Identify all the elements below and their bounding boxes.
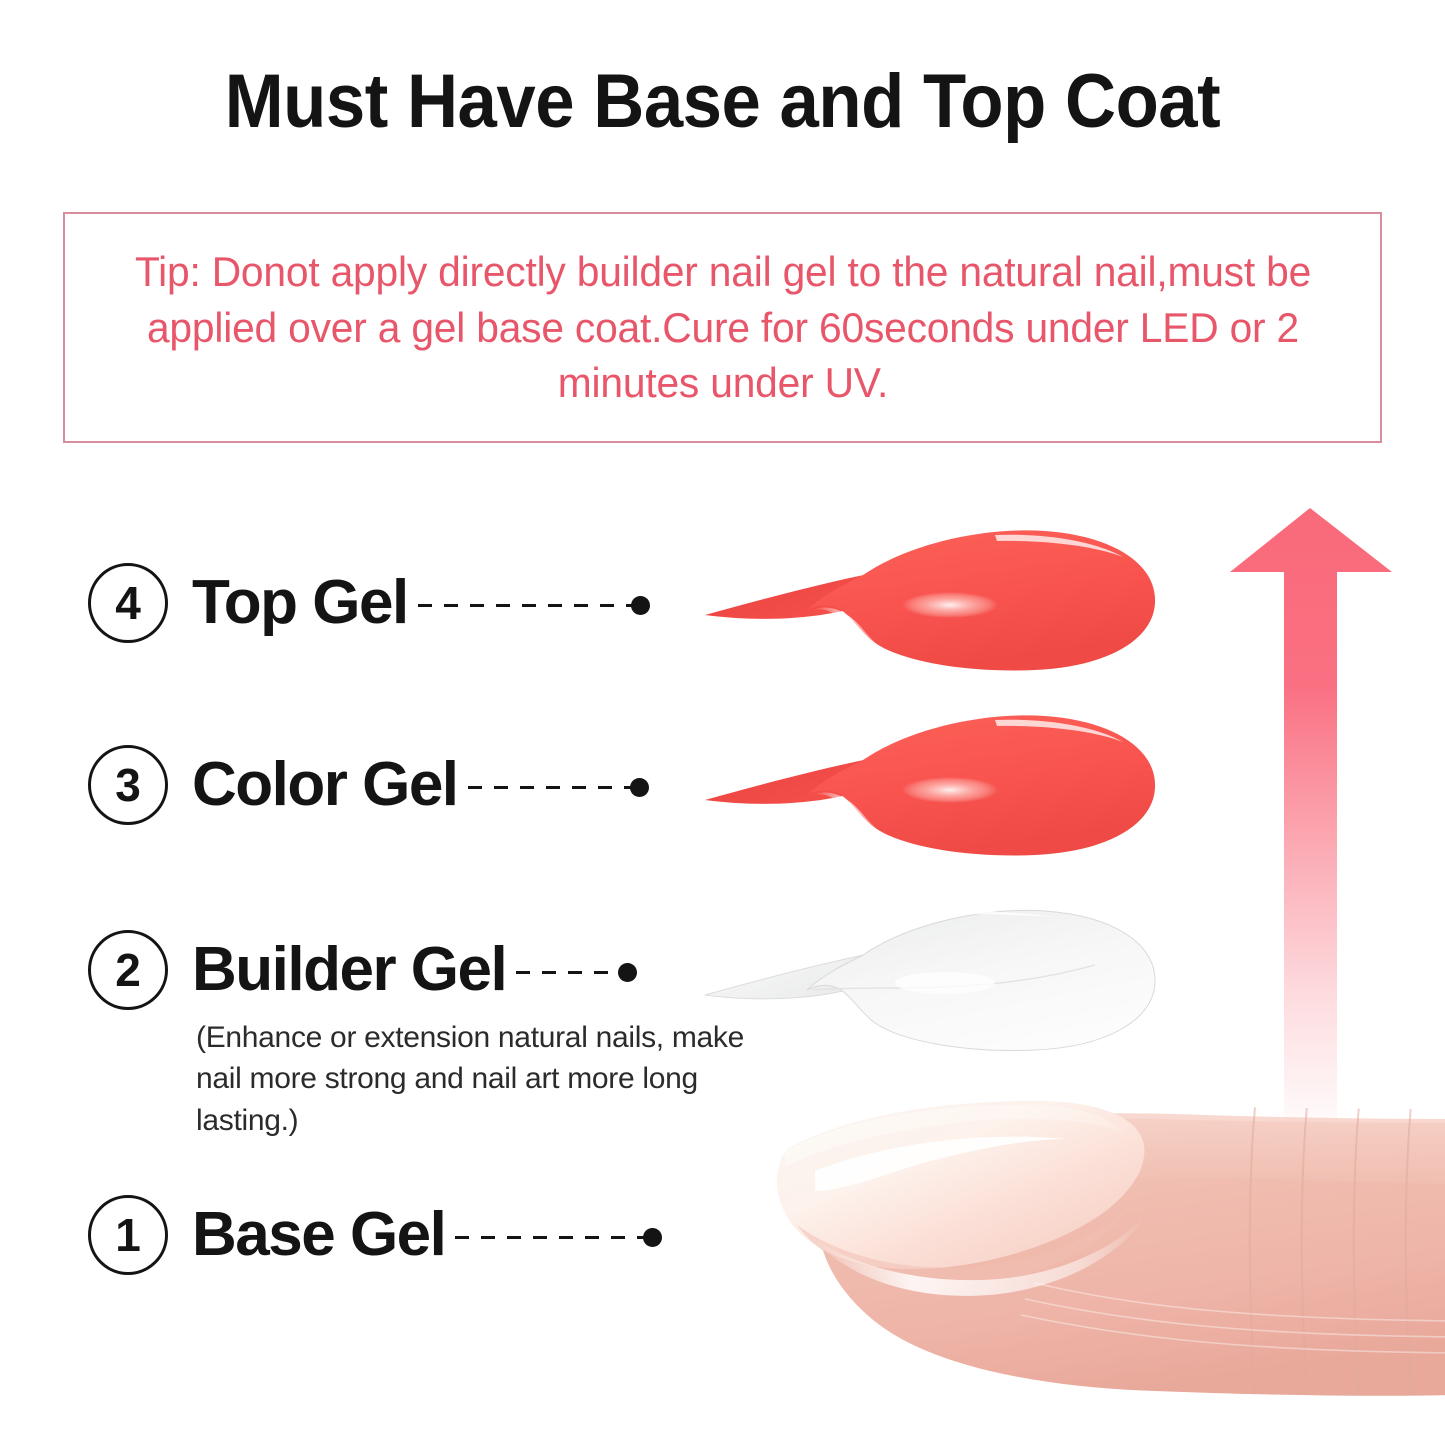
clear-gel-drop-builder-icon <box>695 895 1165 1070</box>
step-note-builder-gel: (Enhance or extension natural nails, mak… <box>196 1017 756 1141</box>
red-gel-drop-top-icon <box>695 515 1165 690</box>
leader-dot-icon <box>630 778 649 797</box>
step-number-badge-2: 2 <box>88 930 168 1010</box>
leader-dot-icon <box>618 963 637 982</box>
step-row-base-gel: 1 Base Gel <box>88 1187 662 1283</box>
step-row-color-gel: 3 Color Gel <box>88 737 649 833</box>
leader-line-icon <box>516 971 620 974</box>
step-number-label: 4 <box>115 580 141 626</box>
page-title: Must Have Base and Top Coat <box>51 58 1395 145</box>
leader-dot-icon <box>631 596 650 615</box>
tip-text: Tip: Donot apply directly builder nail g… <box>121 244 1324 410</box>
step-number-badge-3: 3 <box>88 745 168 825</box>
leader-line-icon <box>418 604 633 607</box>
fingertip-with-natural-nail-photo <box>735 1095 1445 1445</box>
step-label-top-gel: Top Gel <box>192 572 408 634</box>
red-gel-drop-color-icon <box>695 700 1165 875</box>
step-label-color-gel: Color Gel <box>192 754 458 816</box>
step-number-label: 1 <box>115 1212 141 1258</box>
leader-line-icon <box>455 1236 645 1239</box>
step-row-builder-gel: 2 Builder Gel <box>88 922 637 1018</box>
step-number-label: 3 <box>115 762 141 808</box>
step-label-builder-gel: Builder Gel <box>192 939 506 1001</box>
leader-line-icon <box>468 786 632 789</box>
step-number-badge-1: 1 <box>88 1195 168 1275</box>
step-number-label: 2 <box>115 947 141 993</box>
step-number-badge-4: 4 <box>88 563 168 643</box>
tip-callout-box: Tip: Donot apply directly builder nail g… <box>63 212 1382 443</box>
step-row-top-gel: 4 Top Gel <box>88 555 650 651</box>
upward-arrow-icon <box>1222 500 1402 1140</box>
leader-dot-icon <box>643 1228 662 1247</box>
step-label-base-gel: Base Gel <box>192 1204 445 1266</box>
